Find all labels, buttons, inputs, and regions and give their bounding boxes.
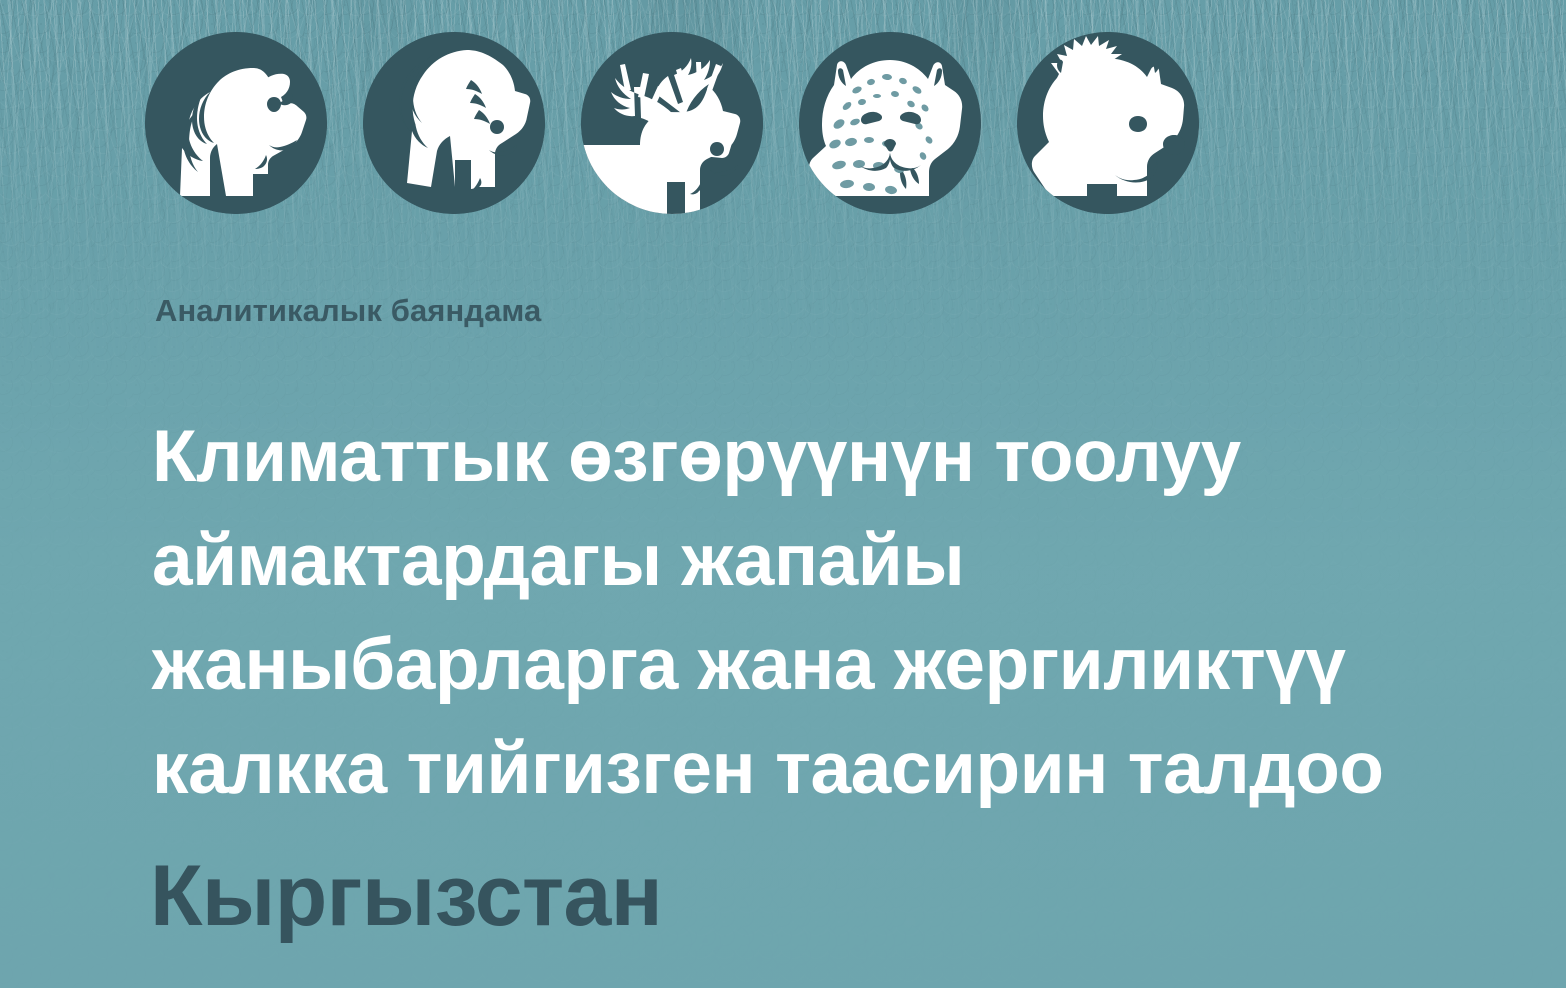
country-name: Кыргызстан bbox=[150, 846, 662, 946]
ibex-icon bbox=[363, 32, 545, 214]
brown-bear-icon bbox=[1017, 32, 1199, 214]
argali-sheep-icon bbox=[145, 32, 327, 214]
red-deer-icon bbox=[581, 32, 763, 214]
snow-leopard-icon bbox=[799, 32, 981, 214]
report-kicker: Аналитикалык баяндама bbox=[155, 293, 541, 329]
title-line-1: Климаттык өзгөрүүнүн тоолуу bbox=[152, 405, 1442, 509]
wildlife-icon-row bbox=[145, 32, 1199, 214]
title-line-2: аймактардагы жапайы bbox=[152, 509, 1442, 613]
report-title: Климаттык өзгөрүүнүн тоолуу аймактардагы… bbox=[152, 405, 1442, 821]
title-line-4: калкка тийгизген таасирин талдоо bbox=[152, 717, 1442, 821]
cover-content: Аналитикалык баяндама Климаттык өзгөрүүн… bbox=[0, 0, 1566, 988]
report-cover: Аналитикалык баяндама Климаттык өзгөрүүн… bbox=[0, 0, 1566, 988]
title-line-3: жаныбарларга жана жергиликтүү bbox=[152, 613, 1442, 717]
